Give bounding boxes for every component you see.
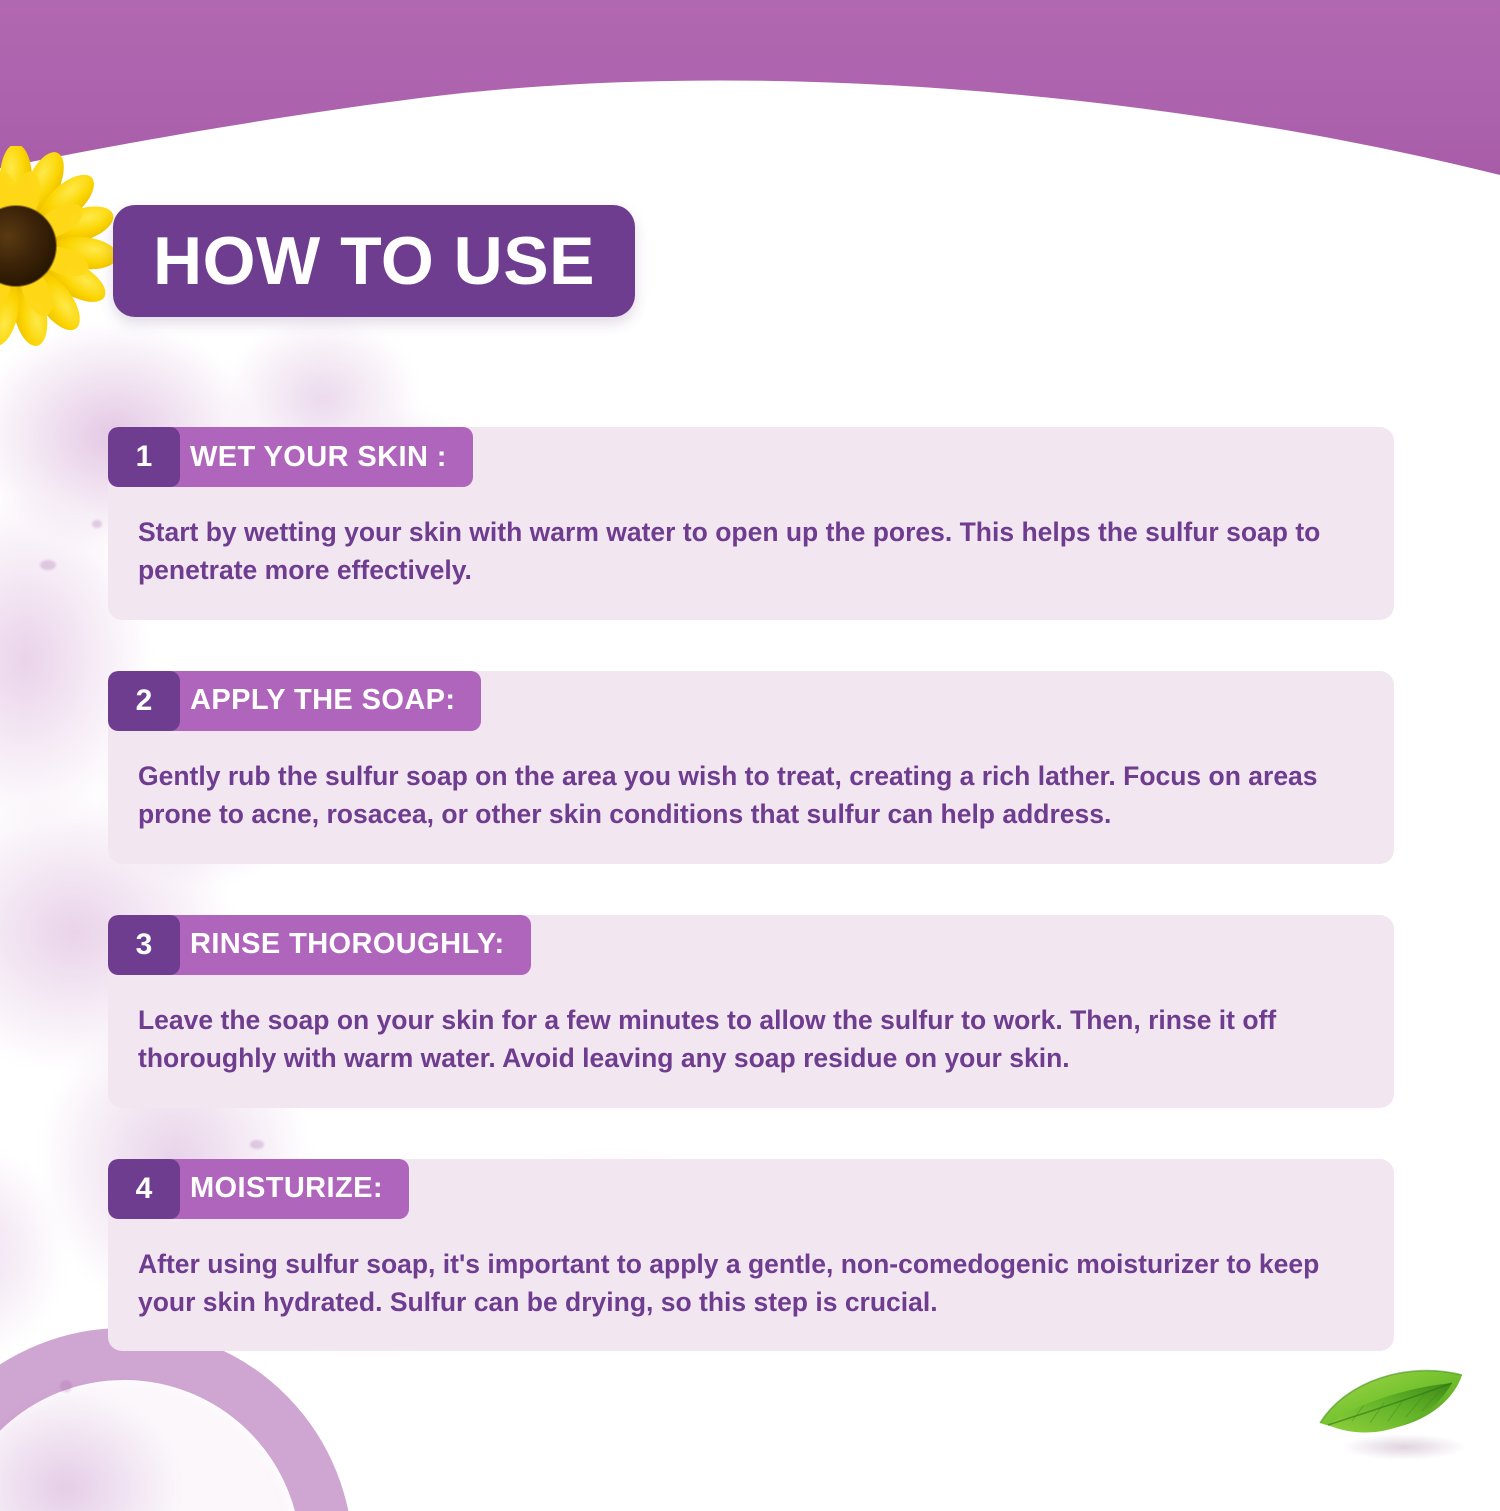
step-item: 3 RINSE THOROUGHLY: Leave the soap on yo… xyxy=(108,915,1394,1108)
step-card: 2 APPLY THE SOAP: Gently rub the sulfur … xyxy=(108,671,1394,864)
step-body-text: Leave the soap on your skin for a few mi… xyxy=(108,975,1363,1078)
step-number-badge: 4 xyxy=(108,1159,180,1219)
step-title: APPLY THE SOAP: xyxy=(170,671,481,731)
speck xyxy=(40,560,56,570)
step-title: WET YOUR SKIN : xyxy=(170,427,473,487)
step-header: 3 RINSE THOROUGHLY: xyxy=(108,915,531,975)
step-body-text: Gently rub the sulfur soap on the area y… xyxy=(108,731,1363,834)
speck xyxy=(92,520,102,528)
step-number-badge: 1 xyxy=(108,427,180,487)
step-card: 3 RINSE THOROUGHLY: Leave the soap on yo… xyxy=(108,915,1394,1108)
step-header: 2 APPLY THE SOAP: xyxy=(108,671,481,731)
step-number-badge: 3 xyxy=(108,915,180,975)
page-title: HOW TO USE xyxy=(153,227,595,295)
step-item: 2 APPLY THE SOAP: Gently rub the sulfur … xyxy=(108,671,1394,864)
step-body-text: After using sulfur soap, it's important … xyxy=(108,1219,1363,1322)
header-curve-band xyxy=(0,0,1500,230)
step-header: 1 WET YOUR SKIN : xyxy=(108,427,473,487)
step-card: 4 MOISTURIZE: After using sulfur soap, i… xyxy=(108,1159,1394,1352)
sunflower-icon xyxy=(0,146,116,346)
step-title: RINSE THOROUGHLY: xyxy=(170,915,531,975)
step-body-text: Start by wetting your skin with warm wat… xyxy=(108,487,1363,590)
poster-canvas: HOW TO USE 1 WET YOUR SKIN : Start by we… xyxy=(0,0,1500,1511)
step-item: 1 WET YOUR SKIN : Start by wetting your … xyxy=(108,427,1394,620)
step-title: MOISTURIZE: xyxy=(170,1159,409,1219)
step-card: 1 WET YOUR SKIN : Start by wetting your … xyxy=(108,427,1394,620)
step-item: 4 MOISTURIZE: After using sulfur soap, i… xyxy=(108,1159,1394,1352)
decorative-ring xyxy=(0,1328,353,1511)
step-number-badge: 2 xyxy=(108,671,180,731)
leaf-icon xyxy=(1312,1365,1482,1475)
step-header: 4 MOISTURIZE: xyxy=(108,1159,409,1219)
steps-list: 1 WET YOUR SKIN : Start by wetting your … xyxy=(108,427,1394,1351)
page-title-banner: HOW TO USE xyxy=(113,205,635,317)
